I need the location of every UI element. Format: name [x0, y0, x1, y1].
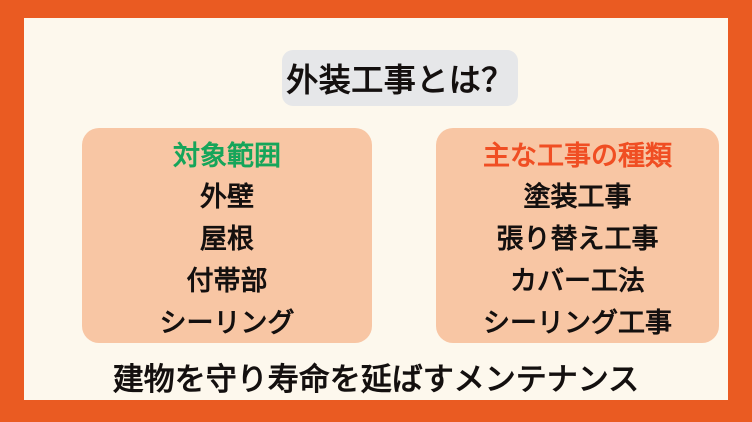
card-scope-heading: 対象範囲	[82, 137, 372, 177]
list-item: シーリング工事	[436, 303, 719, 345]
footer-tagline: 建物を守り寿命を延ばすメンテナンス	[24, 354, 728, 399]
card-work-types-heading: 主な工事の種類	[436, 137, 719, 177]
list-item: 張り替え工事	[436, 219, 719, 261]
list-item: シーリング	[82, 303, 372, 345]
list-item: カバー工法	[436, 261, 719, 303]
list-item: 付帯部	[82, 261, 372, 303]
card-work-types: 主な工事の種類 塗装工事 張り替え工事 カバー工法 シーリング工事	[436, 128, 719, 343]
card-scope: 対象範囲 外壁 屋根 付帯部 シーリング	[82, 128, 372, 343]
title-badge: 外装工事とは？	[282, 50, 518, 106]
page-title: 外装工事とは？	[286, 55, 514, 101]
list-item: 外壁	[82, 177, 372, 219]
content-panel: 外装工事とは？ 対象範囲 外壁 屋根 付帯部 シーリング 主な工事の種類 塗装工…	[24, 18, 728, 400]
card-scope-item-list: 外壁 屋根 付帯部 シーリング	[82, 177, 372, 345]
bottom-clipped-strip	[24, 400, 728, 422]
card-work-types-item-list: 塗装工事 張り替え工事 カバー工法 シーリング工事	[436, 177, 719, 345]
list-item: 屋根	[82, 219, 372, 261]
list-item: 塗装工事	[436, 177, 719, 219]
infographic-slide: 外装工事とは？ 対象範囲 外壁 屋根 付帯部 シーリング 主な工事の種類 塗装工…	[0, 0, 752, 422]
cards-row: 対象範囲 外壁 屋根 付帯部 シーリング 主な工事の種類 塗装工事 張り替え工事…	[82, 128, 719, 343]
